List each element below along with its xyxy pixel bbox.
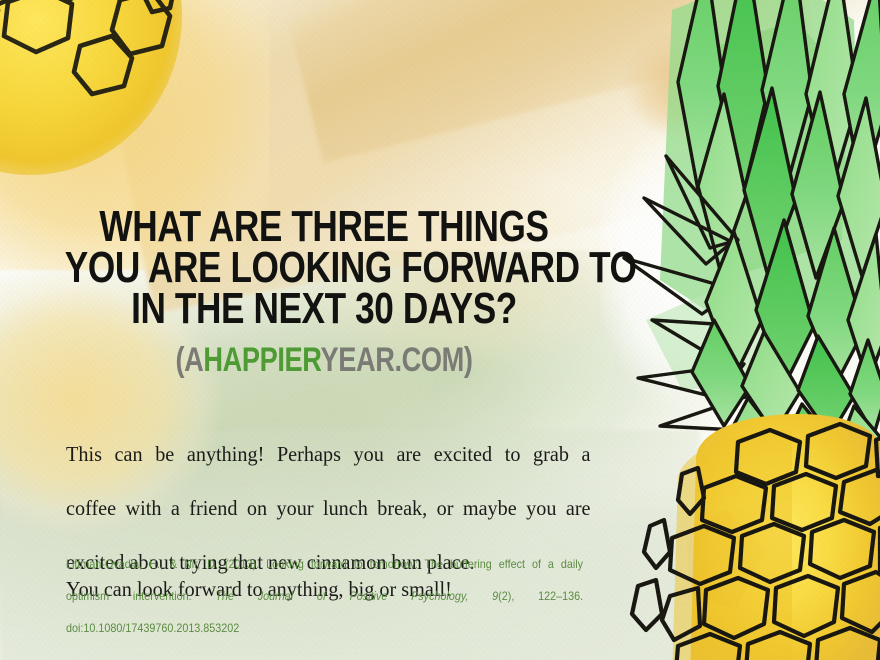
citation-line-1: Littman-Ovadia, H., & Nir, D. (2013). Lo… xyxy=(66,557,583,589)
citation-word-intervention: intervention. xyxy=(133,590,192,603)
url-brand-highlight: HAPPIER xyxy=(203,341,320,379)
headline-line-3: IN THE NEXT 30 DAYS? xyxy=(65,288,583,329)
citation-issue: (2), xyxy=(498,590,514,603)
body-line-1: This can be anything! Perhaps you are ex… xyxy=(66,441,591,495)
url-open-paren: (A xyxy=(175,341,203,379)
poster-text-content: WHAT ARE THREE THINGS YOU ARE LOOKING FO… xyxy=(0,0,880,660)
citation-reference: Littman-Ovadia, H., & Nir, D. (2013). Lo… xyxy=(66,557,583,637)
citation-line-2: optimism intervention. The Journal of Po… xyxy=(66,589,583,621)
citation-word-optimism: optimism xyxy=(66,590,109,603)
citation-journal-title: The Journal of Positive Psychology, 9 xyxy=(215,590,498,603)
website-url[interactable]: (AHAPPIERYEAR.COM) xyxy=(65,343,583,377)
citation-doi: doi:10.1080/17439760.2013.853202 xyxy=(66,621,583,637)
body-line-2: coffee with a friend on your lunch break… xyxy=(66,495,591,549)
headline-line-1: WHAT ARE THREE THINGS xyxy=(65,206,583,247)
citation-pages: 122–136. xyxy=(538,590,583,603)
page-title: WHAT ARE THREE THINGS YOU ARE LOOKING FO… xyxy=(65,206,583,329)
headline-line-2: YOU ARE LOOKING FORWARD TO xyxy=(65,247,583,288)
url-remainder: YEAR.COM) xyxy=(320,341,472,379)
poster-canvas: WHAT ARE THREE THINGS YOU ARE LOOKING FO… xyxy=(0,0,880,660)
